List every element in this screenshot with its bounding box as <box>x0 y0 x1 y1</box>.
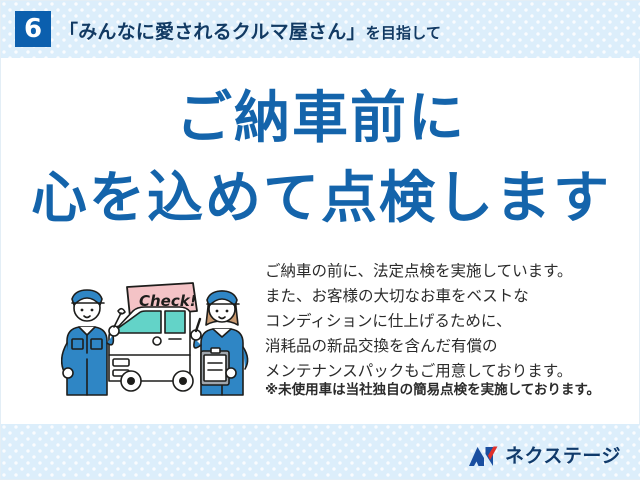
header-tagline-tail: を目指して <box>366 24 442 42</box>
body-line: 消耗品の新品交換を含んだ有償の <box>265 334 625 359</box>
body-line: コンディションに仕上げるために、 <box>265 309 625 334</box>
van-illustration <box>109 307 193 391</box>
brand-name: ネクステージ <box>505 447 621 466</box>
body-paragraph: ご納車の前に、法定点検を実施しています。 また、お客様の大切なお車をベストな コ… <box>265 259 625 384</box>
brand-logo: ネクステージ <box>468 446 621 467</box>
nextage-n-mark-icon <box>468 446 498 467</box>
headline-line-1: ご納車前に <box>1 91 640 147</box>
disclaimer-note: ※未使用車は当社独自の簡易点検を実施しております。 <box>265 381 635 399</box>
mechanics-illustration: Check! <box>61 263 261 398</box>
header-tagline-quoted: 「みんなに愛されるクルマ屋さん」 <box>59 21 366 43</box>
section-number-badge: 6 <box>15 11 51 47</box>
body-line: ご納車の前に、法定点検を実施しています。 <box>265 259 625 284</box>
body-line: また、お客様の大切なお車をベストな <box>265 284 625 309</box>
header-tagline: 「みんなに愛されるクルマ屋さん」を目指して <box>59 17 441 44</box>
mechanic-right <box>191 291 248 395</box>
headline-line-2: 心を込めて点検します <box>1 171 640 227</box>
advertisement-banner: 6 「みんなに愛されるクルマ屋さん」を目指して ご納車前に 心を込めて点検します… <box>0 0 640 480</box>
